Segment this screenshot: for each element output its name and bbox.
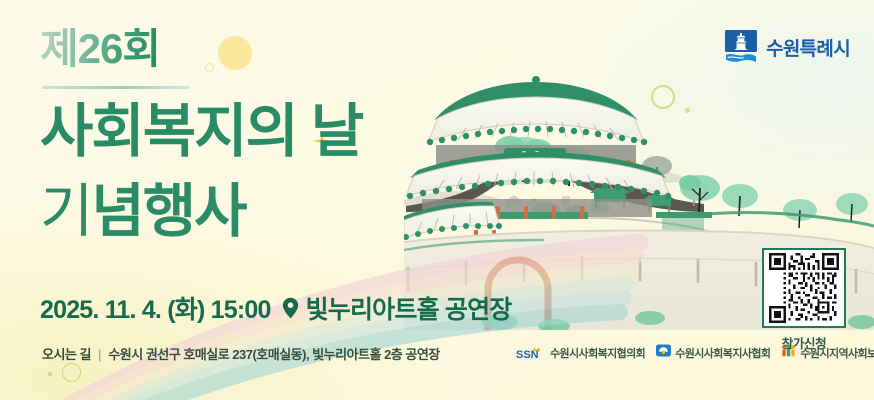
hands-badge-icon <box>656 344 671 362</box>
qr-code-icon[interactable] <box>762 248 846 328</box>
event-datetime: 2025. 11. 4. (화) 15:00 <box>40 290 271 326</box>
qr-registration-block[interactable]: 참가신청 <box>762 248 846 352</box>
page-title-line-1: 사회복지의 날 <box>40 103 362 161</box>
olive-ring-decor <box>651 85 675 109</box>
edition-underline <box>42 86 190 89</box>
yellow-circle-decor <box>218 36 252 70</box>
yellow-ring-decor <box>205 63 214 72</box>
edition-number: 제26회 <box>40 28 160 70</box>
partner-logo-2: 수원시사회복지사협회 <box>656 344 770 362</box>
map-pin-icon <box>282 297 299 319</box>
page-title-line-2: 기념행사 <box>40 183 245 241</box>
partner-logo-1: SSN 수원시사회복지협의회 <box>516 345 645 361</box>
bottom-dot-decor <box>48 372 52 376</box>
partner-name-1: 수원시사회복지협의회 <box>550 345 645 361</box>
svg-text:SSN: SSN <box>516 349 539 360</box>
partner-logo-3: 수원시지역사회보장협의체 <box>781 344 874 362</box>
partner-name-2: 수원시사회복지사협회 <box>675 345 770 361</box>
address-text: 수원시 권선구 호매실로 237(호매실동), 빛누리아트홀 2층 공연장 <box>108 344 439 363</box>
partner-logos: SSN 수원시사회복지협의회 수원시사회복지사협회 <box>516 344 874 362</box>
suwon-city-logo: 수원특례시 <box>725 30 850 64</box>
bottom-ring-decor <box>62 363 81 382</box>
address-separator: | <box>98 347 101 362</box>
partner-name-3: 수원시지역사회보장협의체 <box>800 345 874 361</box>
address-row: 오시는 길 | 수원시 권선구 호매실로 237(호매실동), 빛누리아트홀 2… <box>42 344 440 363</box>
suwon-tower-icon <box>725 30 757 64</box>
event-datetime-row: 2025. 11. 4. (화) 15:00 빛누리아트홀 공연장 <box>40 290 512 326</box>
poster-canvas: 제26회 사회복지의 날 기념행사 2025. 11. 4. (화) 15:00… <box>0 0 874 400</box>
ssn-crown-icon: SSN <box>516 346 546 361</box>
title-line-2-rest: 념행사 <box>91 179 245 244</box>
title-line-2-first-glyph: 기 <box>40 179 91 244</box>
people-group-icon <box>781 344 796 362</box>
event-venue: 빛누리아트홀 공연장 <box>306 290 512 326</box>
olive-dot-decor <box>685 108 690 113</box>
address-label: 오시는 길 <box>42 344 91 363</box>
city-logo-name: 수원특례시 <box>766 34 850 61</box>
